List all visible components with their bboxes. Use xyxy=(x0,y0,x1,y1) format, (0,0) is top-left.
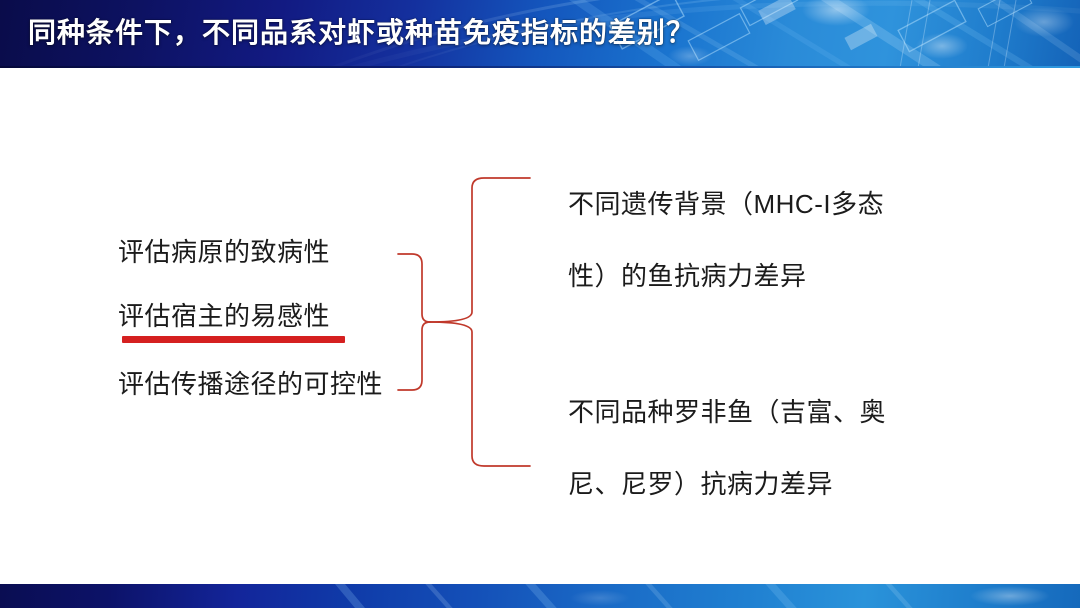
slide-root: 同种条件下，不同品系对虾或种苗免疫指标的差别？ 评估病原的致病性 评估宿主的易感… xyxy=(0,0,1080,608)
bottom-strip-decoration xyxy=(0,584,1080,608)
left-item-2: 评估宿主的易感性 xyxy=(118,301,330,331)
right-group-1-line-2: 性）的鱼抗病力差异 xyxy=(568,240,928,312)
left-item-1: 评估病原的致病性 xyxy=(118,237,330,267)
right-group-2-line-1: 不同品种罗非鱼（吉富、奥 xyxy=(568,376,928,448)
right-group-tilapia-varieties: 不同品种罗非鱼（吉富、奥 尼、尼罗）抗病力差异 xyxy=(568,376,928,520)
bottom-accent-strip xyxy=(0,584,1080,608)
brace-right-pointing-icon xyxy=(398,254,430,390)
slide-body: 评估病原的致病性 评估宿主的易感性 评估传播途径的可控性 不同遗传背景（MHC-… xyxy=(0,68,1080,584)
right-group-2-line-2: 尼、尼罗）抗病力差异 xyxy=(568,448,928,520)
left-item-3: 评估传播途径的可控性 xyxy=(118,369,383,399)
right-group-1-line-1: 不同遗传背景（MHC-I多态 xyxy=(568,168,928,240)
emphasis-underline xyxy=(122,336,345,343)
title-banner: 同种条件下，不同品系对虾或种苗免疫指标的差别？ xyxy=(0,0,1080,68)
page-title: 同种条件下，不同品系对虾或种苗免疫指标的差别？ xyxy=(28,13,695,53)
right-group-genetic-background: 不同遗传背景（MHC-I多态 性）的鱼抗病力差异 xyxy=(568,168,928,312)
brace-left-pointing-icon xyxy=(430,178,530,466)
